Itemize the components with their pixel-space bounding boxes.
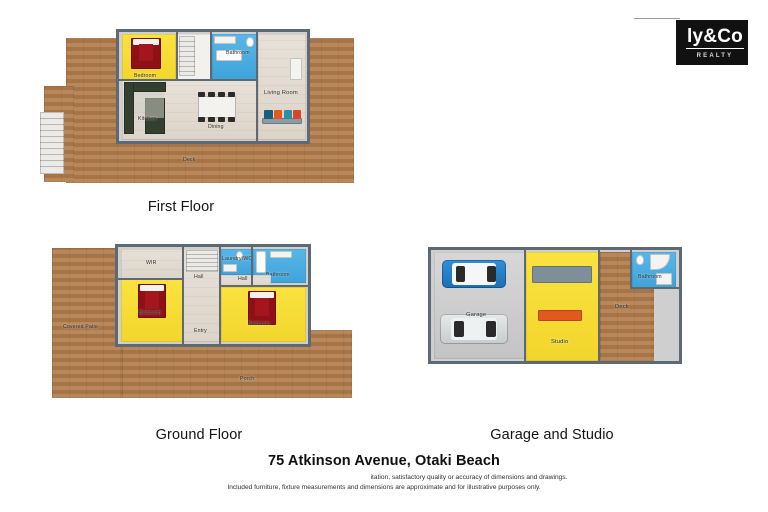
living-chair-teal	[284, 110, 292, 119]
room-label-bedroom-ground-1: Bedroom	[139, 310, 161, 316]
wall-first-left	[116, 29, 119, 144]
wall-garage-int-4	[630, 287, 680, 289]
dining-chair-1	[198, 92, 205, 97]
room-label-bathroom-garage: Bathroom	[638, 274, 662, 280]
wall-ground-right	[308, 244, 311, 347]
room-living-first	[258, 34, 306, 140]
dining-chair-7	[218, 117, 225, 122]
ground-floor-stairs	[186, 250, 218, 272]
room-label-kitchen-first: Kitchen	[138, 116, 156, 122]
vanity-ground	[270, 251, 292, 258]
room-label-garage: Garage	[466, 312, 486, 318]
room-label-living-first: Living Room	[264, 90, 298, 96]
wall-first-int-2	[210, 31, 212, 81]
dining-chair-4	[228, 92, 235, 97]
wall-garage-left	[428, 247, 431, 364]
room-label-deck-first: Deck	[183, 157, 195, 163]
wall-ground-int-2	[219, 246, 221, 344]
room-label-hall-ground-2: Hall	[238, 276, 248, 282]
bed-first-floor	[131, 38, 161, 69]
toilet-garage	[636, 255, 644, 265]
wall-ground-top	[115, 244, 311, 247]
room-label-entry: Entry	[194, 328, 207, 334]
wall-garage-right	[679, 247, 682, 364]
wall-first-right	[307, 29, 310, 144]
vanity-first	[214, 36, 236, 44]
wall-first-int-1	[176, 31, 178, 81]
room-label-bathroom-first: Bathroom	[226, 50, 250, 56]
living-window-first	[290, 58, 302, 80]
wall-garage-int-3	[630, 249, 632, 289]
caption-garage-studio: Garage and Studio	[490, 427, 613, 443]
wall-garage-int-2	[598, 249, 600, 361]
wall-garage-int-1	[524, 249, 526, 361]
wall-garage-bottom	[428, 361, 682, 364]
room-label-bedroom-ground-2: Bedroom	[248, 321, 270, 327]
dining-chair-3	[218, 92, 225, 97]
bed-ground-2	[248, 291, 276, 325]
wall-garage-top	[428, 247, 682, 250]
address-title: 75 Atkinson Avenue, Otaki Beach	[0, 453, 768, 469]
wall-ground-left	[115, 244, 118, 347]
wall-ground-int-4	[221, 285, 309, 287]
first-floor-stairs	[40, 112, 64, 174]
dining-chair-5	[198, 117, 205, 122]
wall-first-int-3	[118, 79, 258, 81]
wall-first-int-4	[256, 31, 258, 141]
room-label-laundry-wc: Laundry/WC	[222, 256, 252, 262]
wall-ground-int-5	[251, 246, 253, 285]
wall-first-top	[116, 29, 310, 32]
kitchen-cabinet-left-wall	[124, 82, 134, 134]
studio-sofa-orange	[538, 310, 582, 321]
plan-garage-studio: Garage Studio Deck Bathroom Garage and S…	[384, 228, 768, 458]
brand-rule	[634, 18, 680, 19]
wall-ground-bottom	[115, 344, 311, 347]
laundry-unit	[223, 264, 237, 272]
wall-ground-int-1	[182, 246, 184, 344]
plan-first-floor: Deck Bedroom Bathroom Liv	[0, 0, 384, 200]
bathtub-ground	[256, 251, 266, 273]
plan-ground-floor: Covered Patio Porch WIR Bedroom Hall Ent…	[0, 228, 384, 458]
kitchen-counter	[134, 92, 164, 118]
studio-sofa-grey	[532, 266, 592, 283]
car-white	[440, 314, 508, 344]
wall-ground-int-3	[117, 278, 183, 280]
floorplan-sheet: ly&Co REALTY Deck Bedroom Bathr	[0, 0, 768, 512]
brand-logo-text: ly&Co	[686, 27, 744, 49]
dining-chair-8	[228, 117, 235, 122]
disclaimer-line-1: itation, satisfactory quality or accurac…	[0, 474, 768, 481]
living-chair-red	[293, 110, 301, 119]
disclaimer-line-2: Included furniture, fixture measurements…	[0, 484, 768, 491]
room-label-studio: Studio	[551, 339, 568, 345]
dining-chair-6	[208, 117, 215, 122]
wall-first-bottom	[116, 141, 310, 144]
first-floor-internal-stairs	[179, 36, 195, 76]
room-label-porch: Porch	[240, 376, 254, 382]
dining-table-first	[198, 96, 236, 118]
room-label-dining-first: Dining	[208, 124, 224, 130]
brand-logo[interactable]: ly&Co REALTY	[676, 20, 748, 65]
dining-chair-2	[208, 92, 215, 97]
living-chair-orange	[274, 110, 282, 119]
living-chair-blue	[264, 110, 273, 119]
caption-first-floor: First Floor	[148, 199, 214, 215]
room-label-covered-patio: Covered Patio	[63, 324, 98, 330]
room-label-deck-garage: Deck	[615, 304, 629, 310]
ground-covered-patio	[52, 248, 122, 398]
toilet-first	[246, 37, 254, 47]
room-label-hall-ground: Hall	[194, 274, 204, 280]
brand-logo-subtext: REALTY	[697, 53, 734, 59]
car-blue	[442, 260, 506, 288]
room-label-wir: WIR	[146, 260, 157, 266]
caption-ground-floor: Ground Floor	[156, 427, 243, 443]
